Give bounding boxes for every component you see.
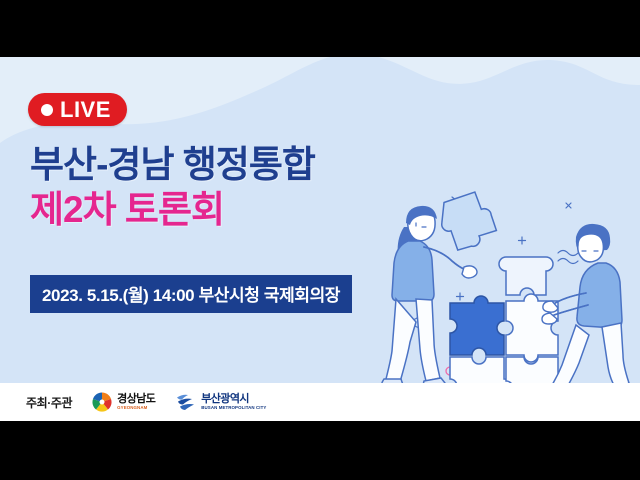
- live-badge: LIVE: [28, 93, 127, 126]
- event-title: 부산-경남 행정통합 제2차 토론회: [30, 145, 315, 229]
- event-schedule-banner: 2023. 5.15.(월) 14:00 부산시청 국제회의장: [30, 275, 352, 313]
- letterbox-top-bar: [0, 0, 640, 57]
- event-title-line-1: 부산-경남 행정통합: [30, 145, 315, 184]
- event-title-line-2: 제2차 토론회: [30, 190, 315, 229]
- organizer-logo-gyeongnam: 경상남도 GYEONGNAM: [92, 392, 155, 412]
- organizer-logo-busan: 부산광역시 BUSAN METROPOLITAN CITY: [175, 393, 266, 411]
- video-player: LIVE .ln { fill:none; stroke:#4a72c4; st…: [0, 0, 640, 480]
- organizer-label: 주최·주관: [26, 394, 72, 411]
- video-content-area: LIVE .ln { fill:none; stroke:#4a72c4; st…: [0, 57, 640, 421]
- organizer-name-ko-gyeongnam: 경상남도: [117, 394, 155, 405]
- busan-emblem-icon: [175, 393, 196, 411]
- live-label: LIVE: [60, 99, 111, 121]
- letterbox-bottom-bar: [0, 421, 640, 480]
- organizer-name-ko-busan: 부산광역시: [201, 394, 266, 405]
- live-dot-icon: [41, 104, 53, 116]
- puzzle-board: [438, 190, 565, 409]
- organizer-name-en-gyeongnam: GYEONGNAM: [117, 406, 155, 410]
- organizer-name-en-busan: BUSAN METROPOLITAN CITY: [201, 406, 266, 410]
- organizer-footer: 주최·주관 경상남도 GYEONGNAM: [0, 383, 640, 421]
- gyeongnam-emblem-icon: [92, 392, 112, 412]
